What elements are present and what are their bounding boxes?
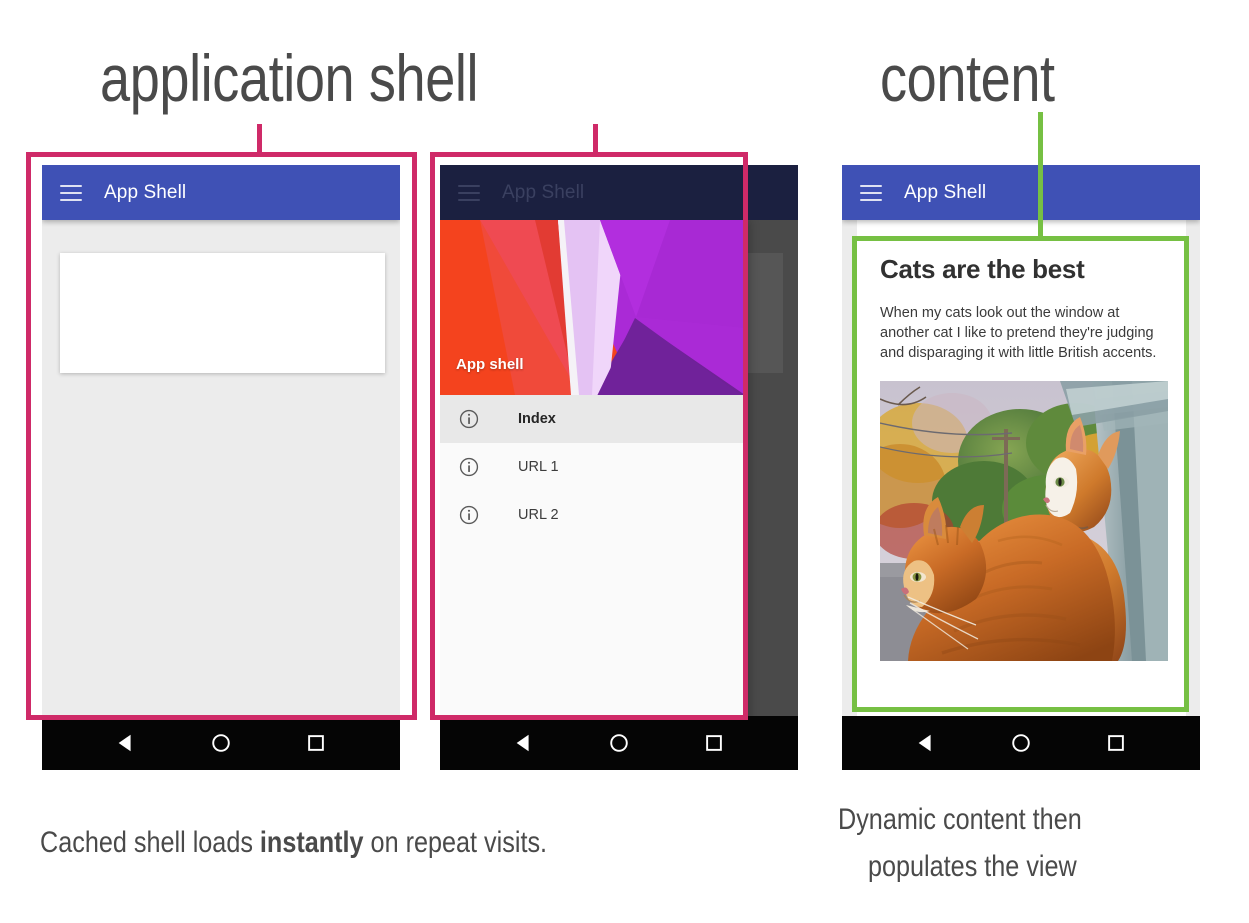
navigation-drawer: App shell Index [440,220,745,716]
back-triangle-icon[interactable] [115,732,137,754]
article-paragraph: When my cats look out the window at anot… [880,303,1160,363]
caption-left-part1: Cached shell loads [40,826,260,859]
recents-square-icon[interactable] [703,732,725,754]
info-icon [458,408,480,430]
drawer-item-label: URL 2 [518,507,559,523]
appbar-title: App Shell [904,182,986,204]
caption-dynamic-content-line2: populates the view [868,850,1077,884]
appbar-title: App Shell [502,182,584,204]
home-circle-icon[interactable] [1010,732,1032,754]
cat-photo [880,381,1168,661]
appbar-phone1: App Shell [42,165,400,220]
app-shell-diagram: application shell content App Shell [0,0,1249,923]
hamburger-icon[interactable] [60,185,82,201]
caption-cached-shell: Cached shell loads instantly on repeat v… [40,826,547,860]
hamburger-icon[interactable] [860,185,882,201]
appbar-title: App Shell [104,182,186,204]
phone1-body [42,220,400,716]
empty-content-card [60,253,385,373]
recents-square-icon[interactable] [1105,732,1127,754]
phone-mockup-content-loaded: App Shell Cats are the best When my cats… [842,165,1200,770]
phone-mockup-empty-shell: App Shell [42,165,400,770]
android-navbar-phone2 [440,716,798,770]
connector-line-app-shell-left [257,124,262,156]
recents-square-icon[interactable] [305,732,327,754]
drawer-header-image: App shell [440,220,745,395]
drawer-item-label: URL 1 [518,459,559,475]
connector-line-content [1038,112,1043,239]
appbar-phone3: App Shell [842,165,1200,220]
connector-line-app-shell-right [593,124,598,156]
annotation-label-content: content [880,40,1055,116]
annotation-label-application-shell: application shell [100,40,478,116]
article-card: Cats are the best When my cats look out … [857,220,1186,716]
back-triangle-icon[interactable] [915,732,937,754]
android-navbar-phone3 [842,716,1200,770]
caption-left-bold: instantly [260,826,364,859]
phone3-body: Cats are the best When my cats look out … [842,220,1200,716]
drawer-item-index[interactable]: Index [440,395,745,443]
home-circle-icon[interactable] [210,732,232,754]
drawer-item-url-1[interactable]: URL 1 [440,443,745,491]
home-circle-icon[interactable] [608,732,630,754]
caption-dynamic-content-line1: Dynamic content then [838,803,1082,837]
android-navbar-phone1 [42,716,400,770]
caption-left-part2: on repeat visits. [364,826,547,859]
phone-mockup-nav-drawer: App Shell [440,165,798,770]
drawer-item-url-2[interactable]: URL 2 [440,491,745,539]
info-icon [458,456,480,478]
appbar-phone2: App Shell [440,165,798,220]
article-title: Cats are the best [880,254,1163,285]
info-icon [458,504,480,526]
phone2-body-scrim[interactable]: App shell Index [440,220,798,716]
hamburger-icon[interactable] [458,185,480,201]
back-triangle-icon[interactable] [513,732,535,754]
drawer-item-label: Index [518,411,556,427]
drawer-item-list: Index URL 1 [440,395,745,539]
drawer-header-label: App shell [456,356,524,373]
